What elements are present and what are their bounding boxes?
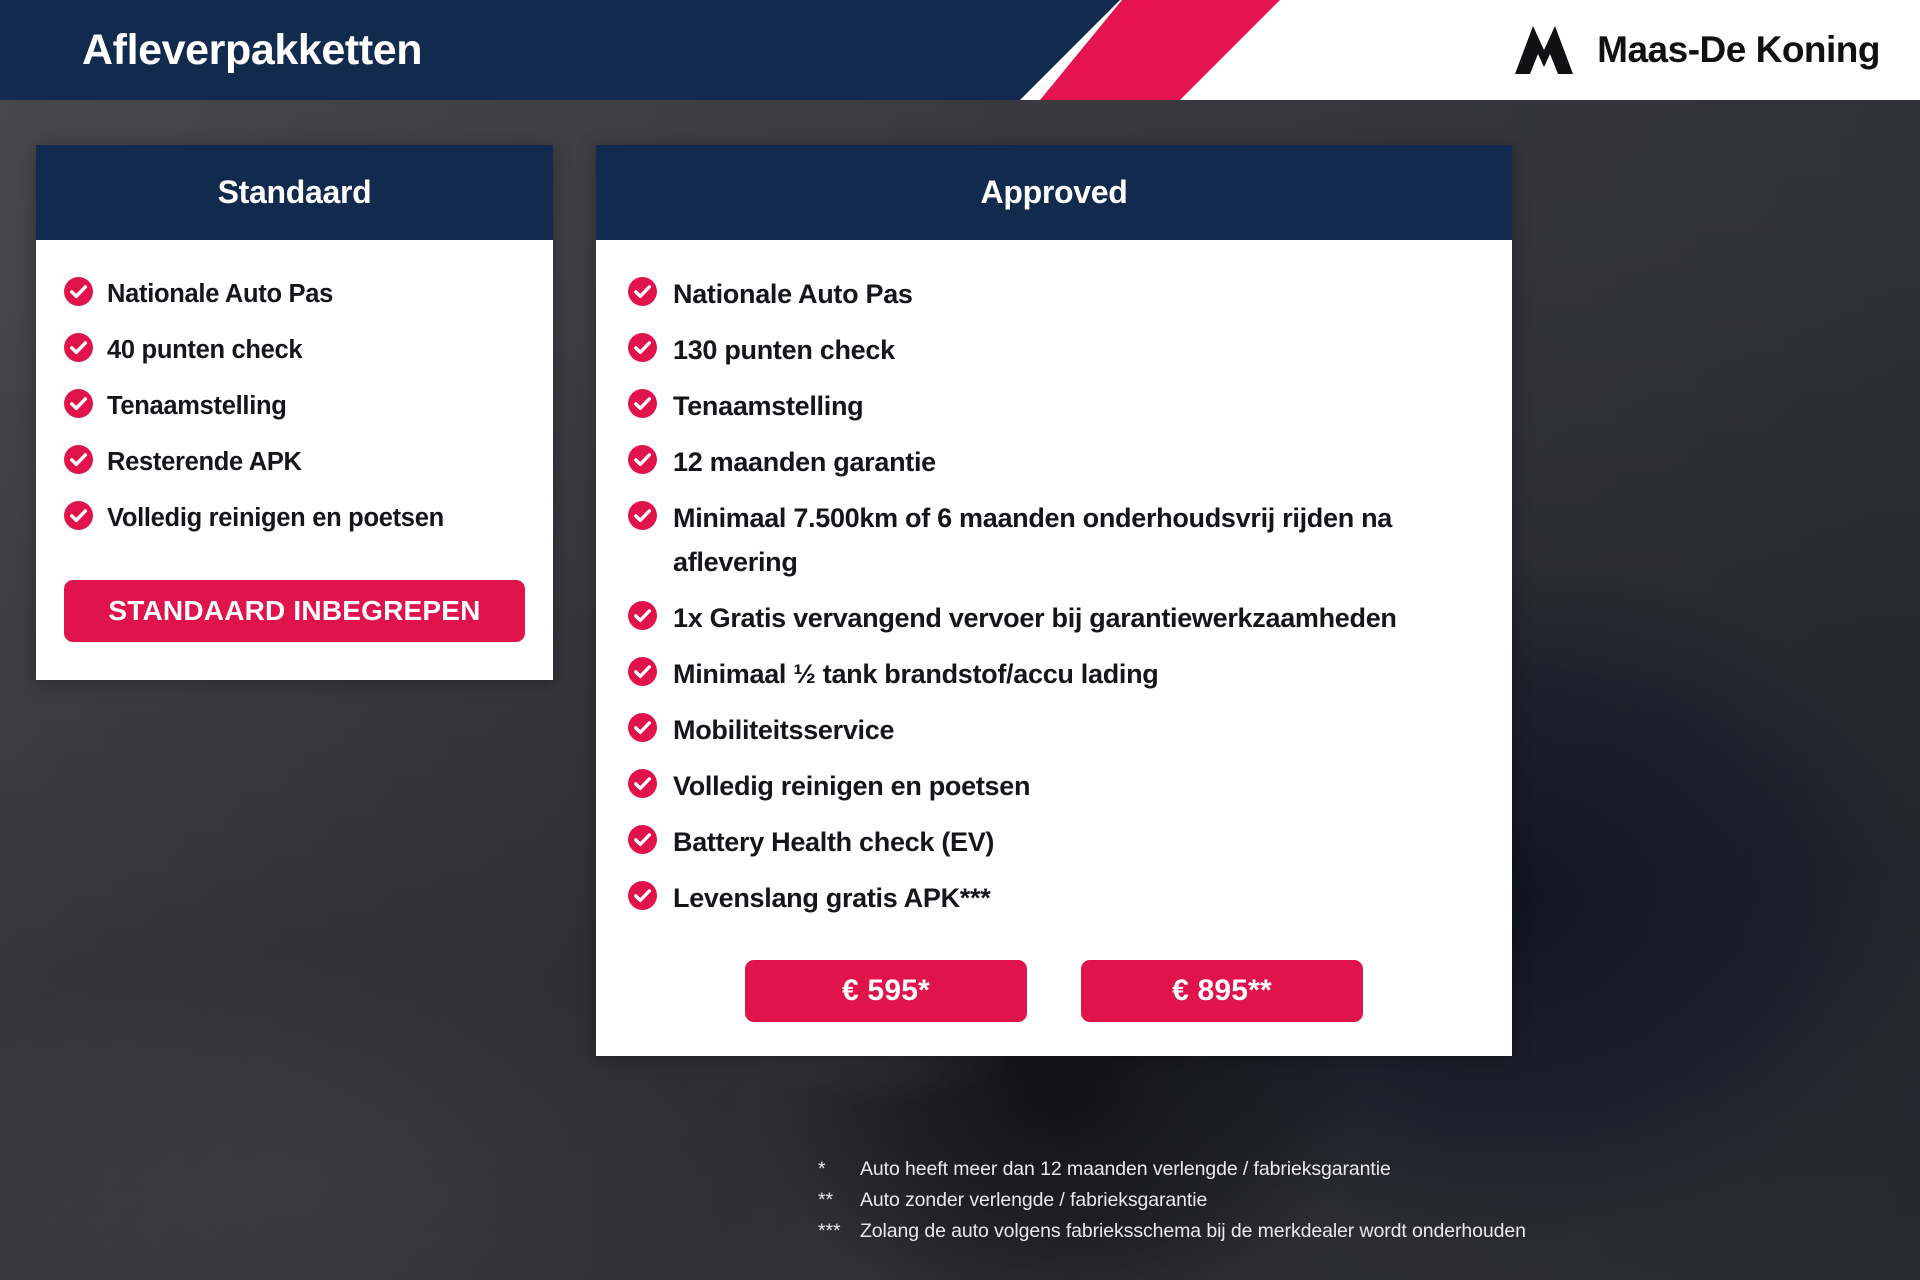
poster-page: Afleverpakketten Maas-De Koning Standaar…	[0, 0, 1920, 1280]
footnote-text: Auto zonder verlengde / fabrieksgarantie	[860, 1185, 1207, 1216]
footnote-single-asterisk: * Auto heeft meer dan 12 maanden verleng…	[818, 1154, 1718, 1185]
feature-label: Nationale Auto Pas	[673, 272, 913, 316]
feature-label: 130 punten check	[673, 328, 895, 372]
list-item: Levenslang gratis APK***	[628, 876, 1482, 920]
check-circle-icon	[628, 769, 657, 798]
list-item: Volledig reinigen en poetsen	[628, 764, 1482, 808]
list-item: Resterende APK	[64, 440, 525, 485]
feature-label: Tenaamstelling	[673, 384, 863, 428]
card-title-standaard: Standaard	[218, 174, 372, 211]
list-item: Battery Health check (EV)	[628, 820, 1482, 864]
list-item: Minimaal ½ tank brandstof/accu lading	[628, 652, 1482, 696]
footnote-marker: ***	[818, 1216, 860, 1247]
page-title: Afleverpakketten	[82, 0, 422, 100]
maas-de-koning-m-logo-icon	[1513, 24, 1575, 76]
feature-list-approved: Nationale Auto Pas 130 punten check Tena…	[628, 272, 1482, 920]
brand-lockup: Maas-De Koning	[1513, 0, 1880, 100]
footnote-text: Auto heeft meer dan 12 maanden verlengde…	[860, 1154, 1391, 1185]
feature-label: Resterende APK	[107, 440, 302, 485]
card-body-standaard: Nationale Auto Pas 40 punten check Tenaa…	[36, 240, 553, 541]
check-circle-icon	[628, 657, 657, 686]
card-header-standaard: Standaard	[36, 145, 553, 240]
list-item: 130 punten check	[628, 328, 1482, 372]
footnote-marker: *	[818, 1154, 860, 1185]
feature-label: Mobiliteitsservice	[673, 708, 894, 752]
footnote-marker: **	[818, 1185, 860, 1216]
check-circle-icon	[64, 389, 93, 418]
brand-name: Maas-De Koning	[1597, 29, 1880, 71]
feature-label: Battery Health check (EV)	[673, 820, 994, 864]
card-header-approved: Approved	[596, 145, 1512, 240]
package-card-approved: Approved Nationale Auto Pas 130 punten	[596, 145, 1512, 1056]
footnote-triple-asterisk: *** Zolang de auto volgens fabrieksschem…	[818, 1216, 1718, 1247]
list-item: Nationale Auto Pas	[628, 272, 1482, 316]
list-item: 1x Gratis vervangend vervoer bij garanti…	[628, 596, 1482, 640]
check-circle-icon	[628, 501, 657, 530]
list-item: 40 punten check	[64, 328, 525, 373]
feature-label: Minimaal ½ tank brandstof/accu lading	[673, 652, 1159, 696]
feature-label: Levenslang gratis APK***	[673, 876, 990, 920]
list-item: Tenaamstelling	[628, 384, 1482, 428]
check-circle-icon	[628, 389, 657, 418]
footnote-double-asterisk: ** Auto zonder verlengde / fabrieksgaran…	[818, 1185, 1718, 1216]
footnotes: * Auto heeft meer dan 12 maanden verleng…	[818, 1154, 1718, 1247]
feature-label: Nationale Auto Pas	[107, 272, 333, 317]
price-button-895[interactable]: € 895**	[1081, 960, 1363, 1022]
check-circle-icon	[64, 501, 93, 530]
check-circle-icon	[64, 445, 93, 474]
check-circle-icon	[628, 445, 657, 474]
feature-label: Tenaamstelling	[107, 384, 287, 429]
check-circle-icon	[628, 601, 657, 630]
list-item: 12 maanden garantie	[628, 440, 1482, 484]
card-body-approved: Nationale Auto Pas 130 punten check Tena…	[596, 240, 1512, 920]
feature-label: Minimaal 7.500km of 6 maanden onderhouds…	[673, 496, 1482, 584]
list-item: Volledig reinigen en poetsen	[64, 496, 525, 541]
feature-label: 1x Gratis vervangend vervoer bij garanti…	[673, 596, 1397, 640]
list-item: Minimaal 7.500km of 6 maanden onderhouds…	[628, 496, 1482, 584]
check-circle-icon	[64, 333, 93, 362]
card-footer-standaard: STANDAARD INBEGREPEN	[36, 552, 553, 680]
card-footer-approved: € 595* € 895**	[596, 932, 1512, 1056]
feature-list-standaard: Nationale Auto Pas 40 punten check Tenaa…	[64, 272, 525, 541]
package-card-standaard: Standaard Nationale Auto Pas 40 punten	[36, 145, 553, 680]
check-circle-icon	[628, 277, 657, 306]
feature-label: Volledig reinigen en poetsen	[107, 496, 444, 541]
standaard-included-button[interactable]: STANDAARD INBEGREPEN	[64, 580, 525, 642]
page-header: Afleverpakketten Maas-De Koning	[0, 0, 1920, 100]
check-circle-icon	[628, 713, 657, 742]
list-item: Nationale Auto Pas	[64, 272, 525, 317]
feature-label: 40 punten check	[107, 328, 302, 373]
feature-label: Volledig reinigen en poetsen	[673, 764, 1030, 808]
feature-label: 12 maanden garantie	[673, 440, 936, 484]
check-circle-icon	[628, 881, 657, 910]
check-circle-icon	[628, 825, 657, 854]
check-circle-icon	[628, 333, 657, 362]
list-item: Tenaamstelling	[64, 384, 525, 429]
footnote-text: Zolang de auto volgens fabrieksschema bi…	[860, 1216, 1526, 1247]
check-circle-icon	[64, 277, 93, 306]
list-item: Mobiliteitsservice	[628, 708, 1482, 752]
card-title-approved: Approved	[981, 174, 1128, 211]
price-button-595[interactable]: € 595*	[745, 960, 1027, 1022]
